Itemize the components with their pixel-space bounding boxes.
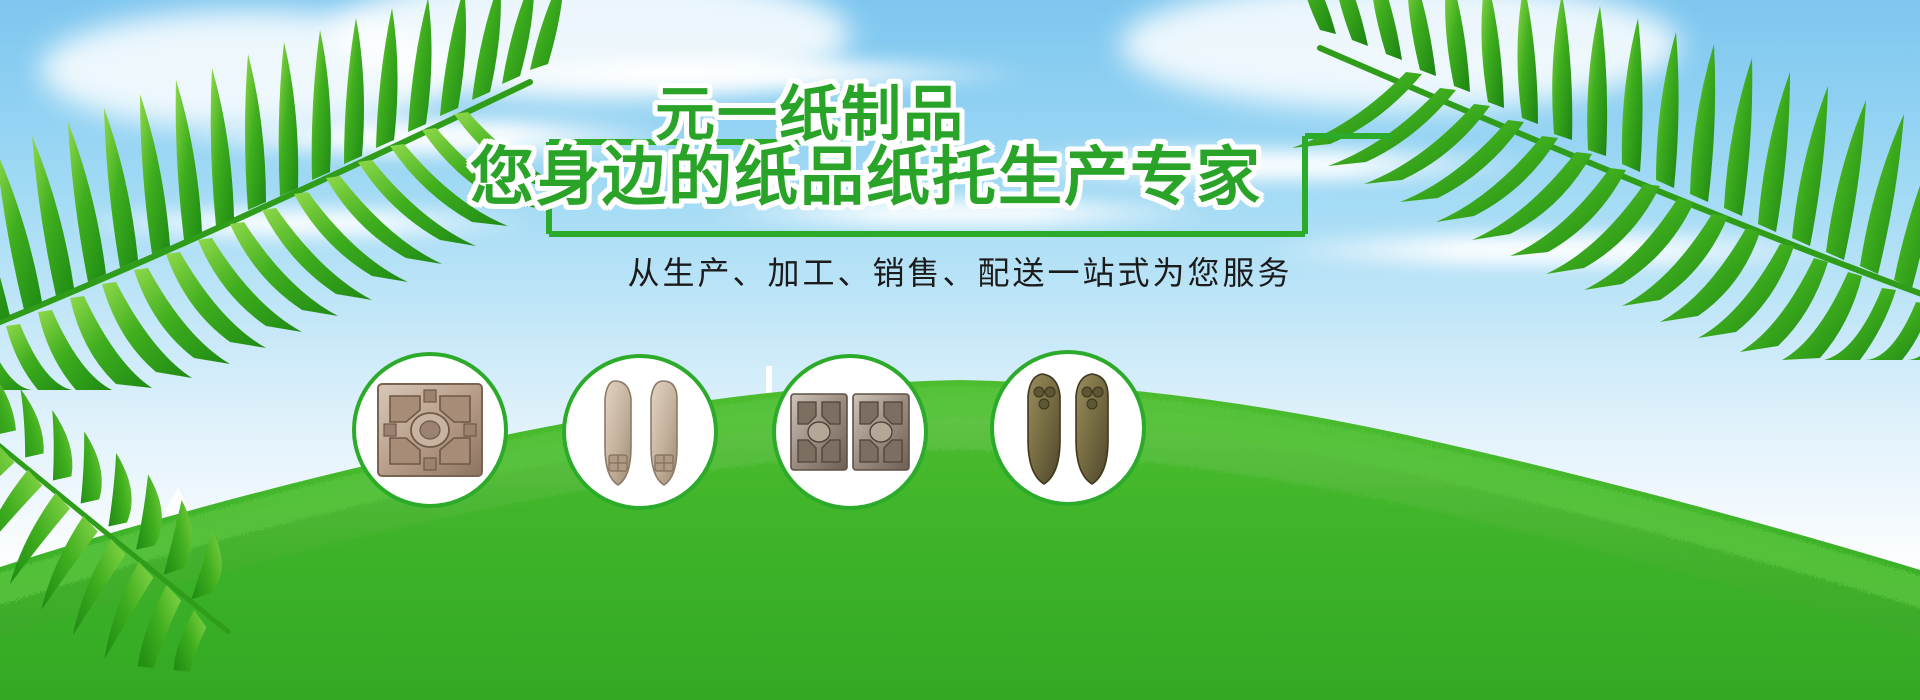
molded-pulp-shoe-tree-image — [585, 373, 695, 491]
cloud-decoration — [40, 10, 460, 130]
molded-pulp-corner-pair-image — [790, 390, 910, 474]
hero-banner: 元一纸制品 您身边的纸品纸托生产专家 从生产、加工、销售、配送一站式为您服务 — [0, 0, 1920, 700]
headline-line-2: 您身边的纸品纸托生产专家 — [470, 144, 1262, 210]
banner-subtitle: 从生产、加工、销售、配送一站式为您服务 — [0, 248, 1920, 294]
headline-block: 元一纸制品 您身边的纸品纸托生产专家 — [545, 88, 1400, 238]
molded-pulp-square-tray-image — [376, 380, 484, 480]
molded-pulp-shoe-insert-image — [1012, 368, 1124, 488]
green-hill — [0, 280, 1920, 700]
product-circle-molded-pulp-corner-pair[interactable] — [772, 354, 928, 510]
product-circle-molded-pulp-shoe-tree[interactable] — [562, 354, 718, 510]
product-circle-molded-pulp-shoe-insert[interactable] — [990, 350, 1146, 506]
product-circle-molded-pulp-square-tray[interactable] — [352, 352, 508, 508]
cloud-decoration — [60, 210, 540, 236]
headline-line-1: 元一纸制品 — [655, 84, 965, 146]
